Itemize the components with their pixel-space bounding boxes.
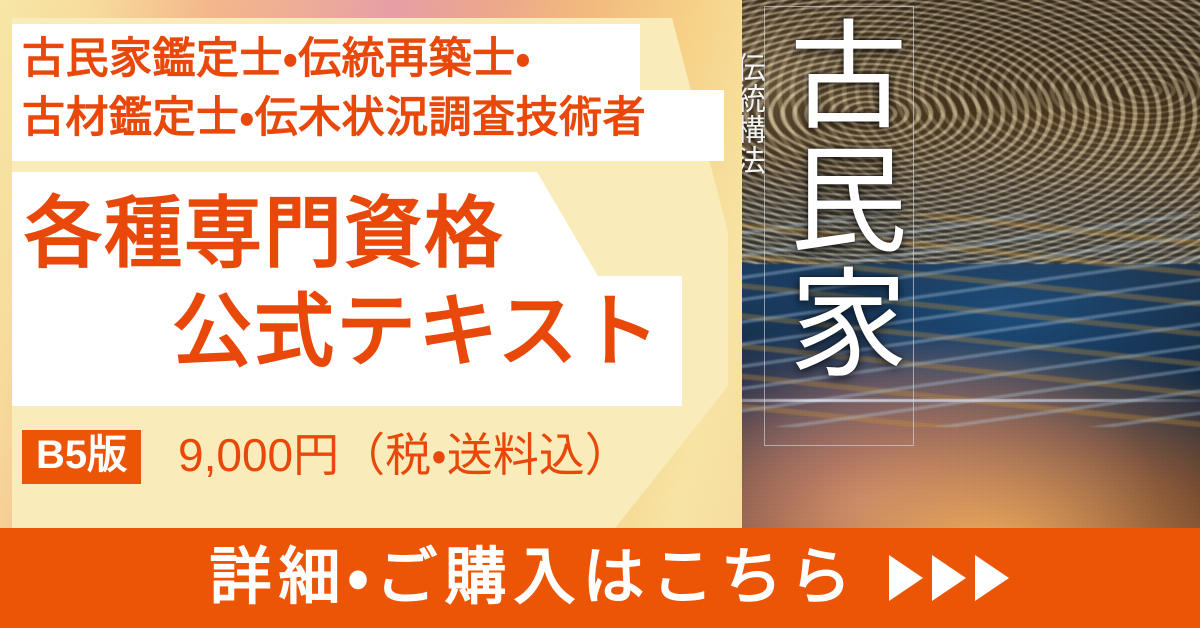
price-label: 9,000円（税・送料込） [178,432,631,478]
size-badge: B5版 [22,430,141,484]
triangle-right-icon [975,555,1009,601]
cta-arrow-group [889,555,1009,601]
headline-line-1: 各種専門資格 [24,194,504,272]
book-cover-title: 古民家 [772,14,904,444]
qualifications-line-2: 古材鑑定士・伝木状況調査技術者 [22,97,646,140]
qualifications-line-1: 古民家鑑定士・伝統再築士・ [22,38,531,81]
triangle-right-icon [889,555,923,601]
cta-label: 詳細・ご購入はこちら [209,547,858,609]
headline-line-2: 公式テキスト [172,292,662,372]
triangle-right-icon [932,555,966,601]
promo-banner: 古民家 伝統構法 古民家活用のための調査と再生の 古民家鑑定士・伝統再築士・ 古… [0,0,1200,628]
cta-bar[interactable]: 詳細・ご購入はこちら [0,528,1200,628]
